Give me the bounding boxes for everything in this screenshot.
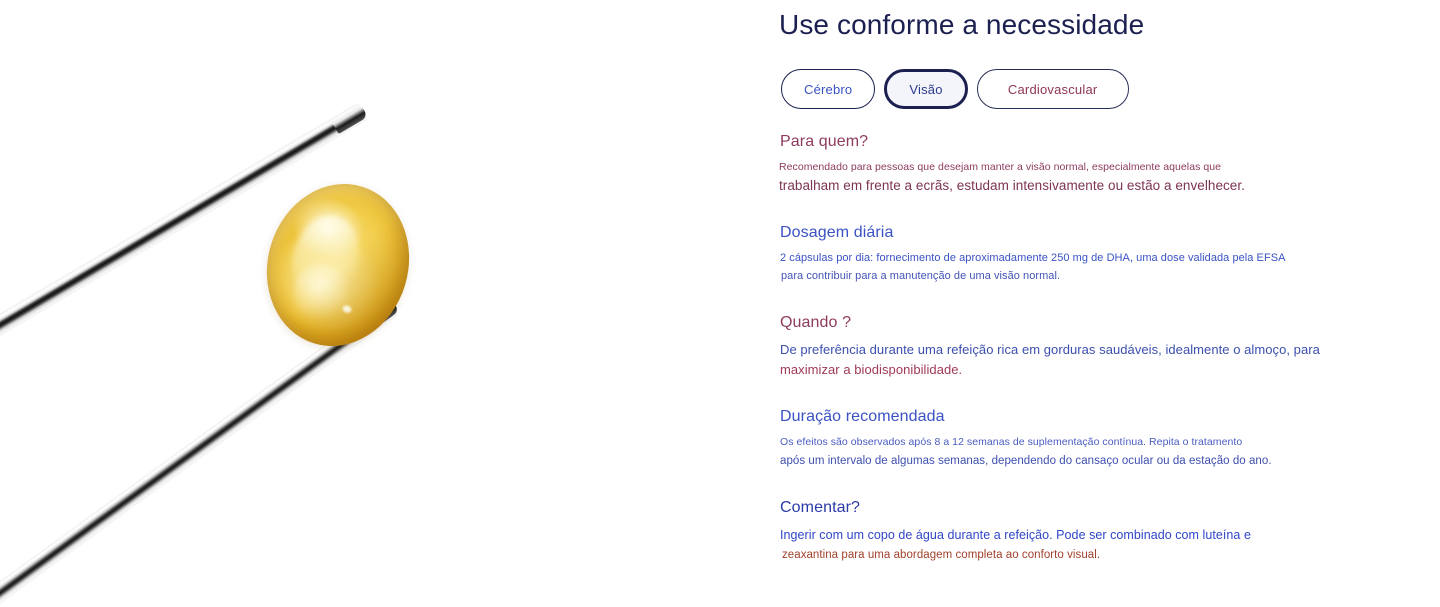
content-pane: Use conforme a necessidade Cérebro Visão… (779, 0, 1440, 607)
tab-visao-label: Visão (909, 82, 942, 97)
section-para-quem-line1: Recomendado para pessoas que desejam man… (779, 159, 1339, 175)
softgel-capsule-icon (247, 166, 429, 364)
page-root: Use conforme a necessidade Cérebro Visão… (0, 0, 1440, 607)
section-para-quem-line2: trabalham em frente a ecrãs, estudam int… (779, 175, 1339, 196)
section-comentar-line2: zeaxantina para uma abordagem completa a… (782, 545, 1339, 565)
tab-visao[interactable]: Visão (884, 69, 967, 109)
section-quando: Quando ? De preferência durante uma refe… (779, 313, 1339, 380)
section-dosagem-diaria-line2: para contribuir para a manutenção de uma… (781, 266, 1339, 286)
product-photo (0, 0, 779, 607)
tweezers-upper-tip-icon (331, 104, 368, 134)
page-title: Use conforme a necessidade (779, 8, 1144, 42)
needs-tab-group: Cérebro Visão Cardiovascular (781, 69, 1129, 109)
tab-cerebro-label: Cérebro (804, 82, 852, 97)
tab-cardiovascular[interactable]: Cardiovascular (977, 69, 1129, 109)
section-dosagem-diaria: Dosagem diária 2 cápsulas por dia: forne… (779, 223, 1339, 286)
section-quando-line1: De preferência durante uma refeição rica… (780, 340, 1339, 360)
section-duracao-recomendada: Duração recomendada Os efeitos são obser… (779, 407, 1339, 471)
section-para-quem: Para quem? Recomendado para pessoas que … (779, 132, 1339, 196)
section-duracao-recomendada-line2: após um intervalo de algumas semanas, de… (780, 451, 1339, 471)
section-comentar-title: Comentar? (780, 498, 1339, 518)
section-comentar-line1: Ingerir com um copo de água durante a re… (780, 525, 1339, 545)
section-duracao-recomendada-line1: Os efeitos são observados após 8 a 12 se… (780, 434, 1339, 451)
section-quando-line2: maximizar a biodisponibilidade. (780, 360, 1339, 380)
section-dosagem-diaria-title: Dosagem diária (780, 223, 1339, 243)
tweezers-lower-arm-icon (0, 300, 398, 607)
section-para-quem-title: Para quem? (780, 132, 1339, 152)
section-dosagem-diaria-line1: 2 cápsulas por dia: fornecimento de apro… (780, 250, 1339, 266)
detail-sections: Para quem? Recomendado para pessoas que … (779, 132, 1339, 565)
product-photo-pane (0, 0, 779, 607)
tab-cerebro[interactable]: Cérebro (781, 69, 875, 109)
section-quando-title: Quando ? (780, 313, 1339, 333)
section-comentar: Comentar? Ingerir com um copo de água du… (779, 498, 1339, 565)
tab-cardiovascular-label: Cardiovascular (1008, 82, 1098, 97)
section-duracao-recomendada-title: Duração recomendada (780, 407, 1339, 427)
